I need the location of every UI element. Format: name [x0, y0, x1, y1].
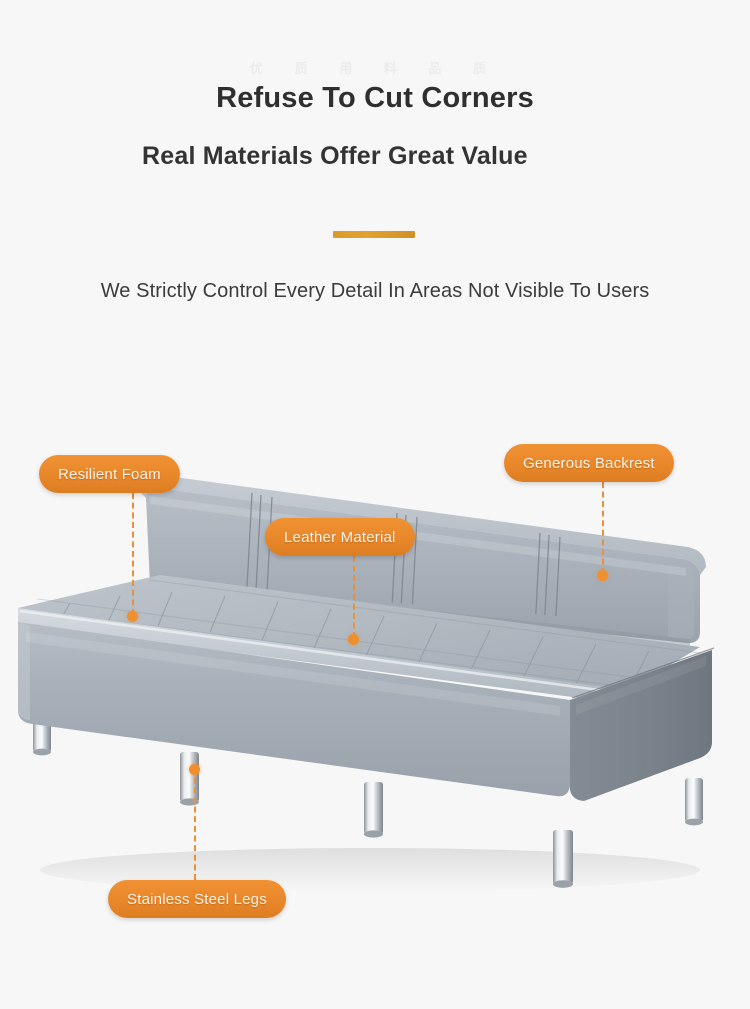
leg-rear-right	[685, 778, 703, 825]
leader-line-foam	[132, 493, 134, 615]
leg-front-middle-overlay	[364, 782, 383, 838]
marker-dot-legs	[189, 764, 200, 775]
page-subtitle: Real Materials Offer Great Value	[142, 142, 562, 171]
title-divider	[333, 231, 415, 238]
marker-dot-foam	[127, 611, 138, 622]
callout-label: Generous Backrest	[523, 455, 655, 472]
leg-front-right-overlay	[553, 830, 573, 888]
infographic-page: 优 质 用 料 品 质 Refuse To Cut Corners Real M…	[0, 0, 750, 1009]
marker-dot-backrest	[597, 570, 608, 581]
page-title: Refuse To Cut Corners	[0, 82, 750, 115]
callout-generous-backrest[interactable]: Generous Backrest	[504, 444, 674, 482]
leg-front-left	[180, 752, 199, 806]
callout-label: Resilient Foam	[58, 466, 161, 483]
leader-line-leather	[353, 556, 355, 638]
page-tagline: We Strictly Control Every Detail In Area…	[0, 280, 750, 303]
callout-label: Stainless Steel Legs	[127, 891, 267, 908]
callout-label: Leather Material	[284, 529, 396, 546]
callout-stainless-steel-legs[interactable]: Stainless Steel Legs	[108, 880, 286, 918]
callout-leather-material[interactable]: Leather Material	[265, 518, 415, 556]
leader-line-legs	[194, 768, 196, 880]
marker-dot-leather	[348, 634, 359, 645]
callout-resilient-foam[interactable]: Resilient Foam	[39, 455, 180, 493]
leader-line-backrest	[602, 482, 604, 574]
ghost-watermark-text: 优 质 用 料 品 质	[0, 58, 750, 77]
